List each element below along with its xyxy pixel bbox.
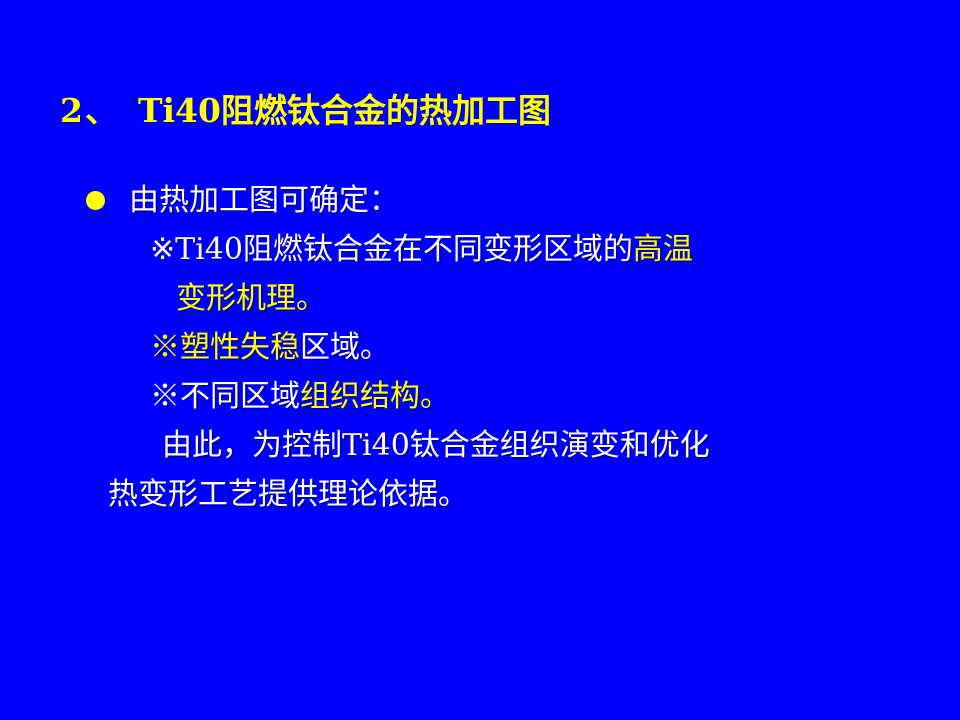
- item-text-highlight: 变形机理。: [176, 281, 326, 316]
- list-item: ※不同区域组织结构。: [0, 372, 960, 421]
- item-marker: ※: [150, 330, 180, 365]
- paragraph-line-1: 由此，为控制Ti40钛合金组织演变和优化: [0, 421, 960, 470]
- item-text-highlight: 塑性失稳: [180, 330, 300, 365]
- slide-body: 由热加工图可确定： ※Ti40阻燃钛合金在不同变形区域的高温 变形机理。 ※塑性…: [0, 176, 960, 519]
- item-text-highlight: 高温: [633, 232, 693, 267]
- item-text-main: 不同区域: [180, 379, 300, 414]
- list-item-continuation: 变形机理。: [0, 274, 960, 323]
- item-marker: ※: [150, 379, 180, 414]
- paragraph-line-2: 热变形工艺提供理论依据。: [0, 470, 960, 519]
- title-text: Ti40阻燃钛合金的热加工图: [138, 91, 551, 130]
- title-number: 2、: [60, 91, 120, 130]
- paragraph-text: 热变形工艺提供理论依据。: [108, 477, 468, 512]
- page-title: 2、Ti40阻燃钛合金的热加工图: [60, 93, 551, 129]
- item-text-main: Ti40阻燃钛合金在不同变形区域的: [175, 232, 633, 267]
- bullet-line: 由热加工图可确定：: [0, 176, 960, 225]
- item-text-highlight: 组织结构。: [300, 379, 450, 414]
- item-text-main: 区域。: [300, 330, 390, 365]
- list-item: ※塑性失稳区域。: [0, 323, 960, 372]
- list-item: ※Ti40阻燃钛合金在不同变形区域的高温: [0, 225, 960, 274]
- filled-circle-icon: [86, 191, 105, 210]
- item-marker: ※: [150, 232, 175, 267]
- paragraph-text: 由此，为控制Ti40钛合金组织演变和优化: [162, 428, 710, 463]
- bullet-label: 由热加工图可确定：: [129, 176, 399, 225]
- slide-canvas: 2、Ti40阻燃钛合金的热加工图 由热加工图可确定： ※Ti40阻燃钛合金在不同…: [0, 0, 960, 720]
